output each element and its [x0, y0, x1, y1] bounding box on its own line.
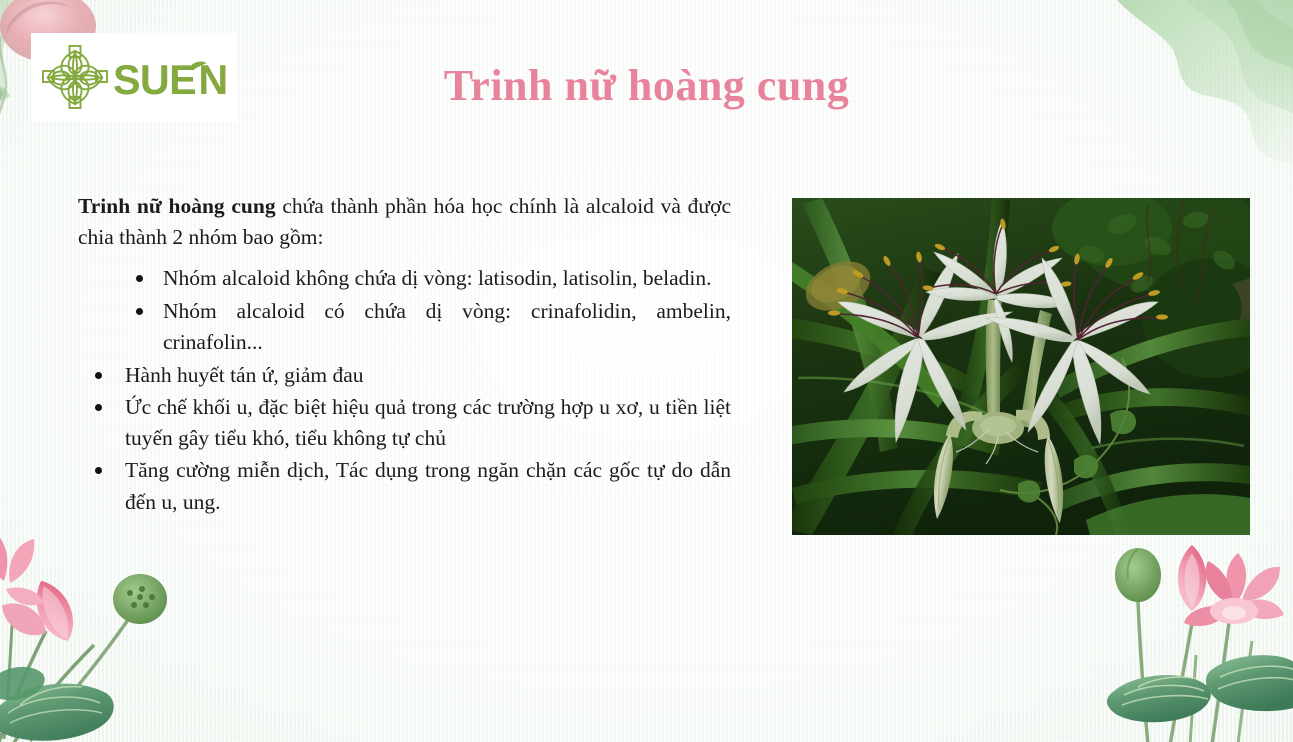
list-item-text: Hành huyết tán ứ, giảm đau	[125, 363, 364, 387]
list-item-text: Nhóm alcaloid có chứa dị vòng: crinafoli…	[163, 299, 731, 354]
flower-photo-illustration	[792, 198, 1250, 535]
list-item: Ức chế khối u, đặc biệt hiệu quả trong c…	[86, 392, 731, 454]
list-item: Nhóm alcaloid không chứa dị vòng: latiso…	[130, 263, 731, 294]
intro-paragraph: Trinh nữ hoàng cung chứa thành phần hóa …	[78, 191, 731, 253]
effects-list: Hành huyết tán ứ, giảm đau Ức chế khối u…	[86, 360, 731, 518]
crinum-latifolium-flower-photo	[792, 198, 1250, 535]
list-item-text: Tăng cường miễn dịch, Tác dụng trong ngă…	[125, 458, 731, 513]
intro-lead-bold: Trinh nữ hoàng cung	[78, 194, 276, 218]
alkaloid-group-list: Nhóm alcaloid không chứa dị vòng: latiso…	[130, 263, 731, 358]
list-item: Nhóm alcaloid có chứa dị vòng: crinafoli…	[130, 296, 731, 358]
list-item-text: Ức chế khối u, đặc biệt hiệu quả trong c…	[125, 395, 731, 450]
list-item: Hành huyết tán ứ, giảm đau	[86, 360, 731, 391]
list-item: Tăng cường miễn dịch, Tác dụng trong ngă…	[86, 455, 731, 517]
list-item-text: Nhóm alcaloid không chứa dị vòng: latiso…	[163, 266, 711, 290]
body-text-column: Trinh nữ hoàng cung chứa thành phần hóa …	[78, 191, 731, 519]
page-title: Trinh nữ hoàng cung	[0, 62, 1293, 110]
presentation-slide: SUE N Trinh nữ hoàng cung Trinh nữ hoàng…	[0, 0, 1293, 742]
